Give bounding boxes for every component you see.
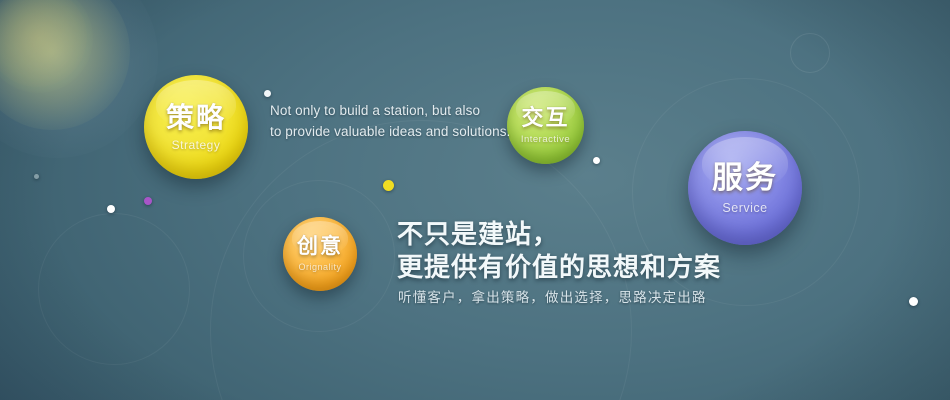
- english-tagline-line2: to provide valuable ideas and solutions.: [270, 122, 520, 143]
- sphere-glow-service: [0, 0, 158, 158]
- sphere-strategy-label-cn: 策略: [166, 104, 226, 132]
- dot-yellow-icon: [383, 180, 394, 191]
- sphere-originality-label-en: Orignality: [298, 263, 341, 272]
- dot-white-mid-icon: [593, 157, 600, 164]
- page-subtitle: 听懂客户，拿出策略，做出选择，思路决定出路: [398, 286, 707, 306]
- ring-small-topright-icon: [790, 33, 830, 73]
- dot-grey-left-icon: [34, 174, 39, 179]
- dot-purple-icon: [144, 197, 152, 205]
- sphere-glow-strategy: [0, 0, 130, 130]
- sphere-glow-interactive: [0, 0, 93, 93]
- dot-white-top-icon: [264, 90, 271, 97]
- dot-white-right-icon: [909, 297, 918, 306]
- hero-banner: 策略 Strategy 交互 Interactive 创意 Orignality…: [0, 0, 950, 400]
- sphere-service-label-en: Service: [722, 202, 767, 215]
- dot-white-left-icon: [107, 205, 115, 213]
- sphere-strategy[interactable]: 策略 Strategy: [144, 75, 248, 179]
- sphere-originality-body: 创意 Orignality: [283, 217, 357, 291]
- sphere-originality[interactable]: 创意 Orignality: [283, 217, 357, 291]
- page-title-line1: 不只是建站，: [397, 218, 721, 251]
- background-vignette: [0, 0, 950, 400]
- page-title-line2: 更提供有价值的思想和方案: [397, 251, 721, 284]
- english-tagline-line1: Not only to build a station, but also: [270, 101, 520, 122]
- sphere-strategy-body: 策略 Strategy: [144, 75, 248, 179]
- sphere-interactive-label-en: Interactive: [521, 135, 570, 145]
- page-title: 不只是建站， 更提供有价值的思想和方案: [397, 218, 721, 285]
- sphere-originality-label-cn: 创意: [297, 236, 343, 257]
- sphere-strategy-label-en: Strategy: [172, 139, 221, 151]
- english-tagline: Not only to build a station, but also to…: [270, 101, 520, 143]
- sphere-service-label-cn: 服务: [712, 162, 778, 193]
- sphere-interactive-label-cn: 交互: [521, 107, 569, 129]
- sphere-glow-originality: [0, 0, 87, 87]
- ring-big-left-icon: [38, 213, 190, 365]
